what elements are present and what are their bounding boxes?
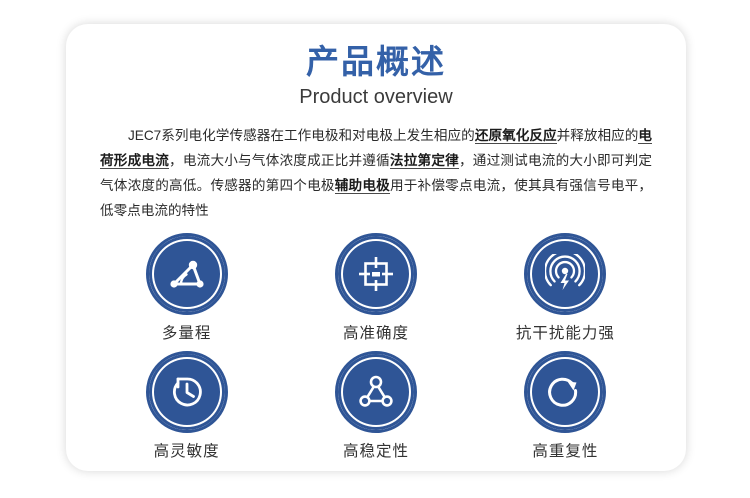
paragraph-segment-3: ，电流大小与气体浓度成正比并遵循 [169,153,390,168]
paragraph-segment-2: 并释放相应的 [557,128,639,143]
feature-item-high-accuracy: 高准确度 [281,239,470,343]
page-title-en: Product overview [66,84,686,111]
feature-item-anti-interference: 抗干扰能力强 [471,239,660,343]
feature-item-high-sensitivity: 高灵敏度 [92,357,281,461]
icon-circle-high-accuracy [341,239,411,309]
triangle-nodes-icon [356,372,396,412]
icon-circle-high-repeatability [530,357,600,427]
icon-circle-high-sensitivity [152,357,222,427]
feature-item-multi-range: 多量程 [92,239,281,343]
feature-label-high-stability: 高稳定性 [343,439,409,461]
feature-label-high-repeatability: 高重复性 [532,439,598,461]
feature-item-high-repeatability: 高重复性 [471,357,660,461]
icon-circle-anti-interference [530,239,600,309]
emphasis-redox-reaction: 还原氧化反应 [475,128,557,144]
circular-arrow-icon [545,372,585,412]
icon-circle-high-stability [341,357,411,427]
feature-grid: 多量程 高准确度 [66,239,686,461]
signal-waves-bolt-icon [545,254,585,294]
feature-label-anti-interference: 抗干扰能力强 [516,321,615,343]
crosshair-target-icon [356,254,396,294]
product-overview-card: 产品概述 Product overview JEC7系列电化学传感器在工作电极和… [66,24,686,471]
paragraph-segment-1: JEC7系列电化学传感器在工作电极和对电极上发生相应的 [128,128,475,143]
feature-label-multi-range: 多量程 [162,321,212,343]
angle-nodes-icon [167,254,207,294]
heading-block: 产品概述 Product overview [66,24,686,111]
emphasis-auxiliary-electrode: 辅助电极 [335,178,390,194]
icon-circle-multi-range [152,239,222,309]
feature-item-high-stability: 高稳定性 [281,357,470,461]
page-title-cn: 产品概述 [66,42,686,82]
emphasis-faraday-law: 法拉第定律 [390,153,459,169]
feature-label-high-accuracy: 高准确度 [343,321,409,343]
feature-label-high-sensitivity: 高灵敏度 [154,439,220,461]
overview-paragraph: JEC7系列电化学传感器在工作电极和对电极上发生相应的还原氧化反应并释放相应的电… [100,123,652,223]
clock-rewind-icon [167,372,207,412]
